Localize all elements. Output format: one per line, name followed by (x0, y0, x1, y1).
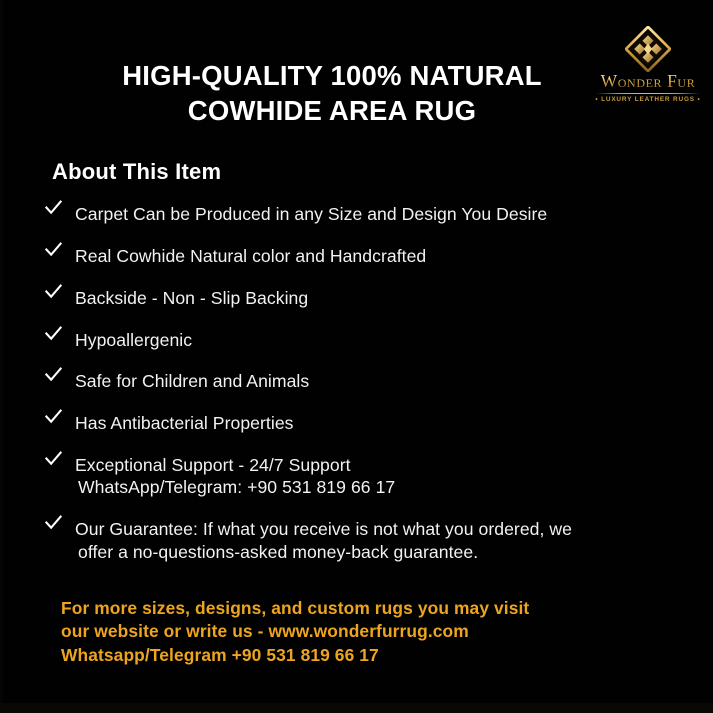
check-icon (44, 198, 63, 217)
brand-logo[interactable]: Wonder Fur • LUXURY LEATHER RUGS • (589, 26, 707, 102)
footer-website-line[interactable]: our website or write us - www.wonderfurr… (61, 620, 681, 643)
bottom-band (0, 703, 713, 713)
list-item-label: Backside - Non - Slip Backing (75, 288, 308, 308)
list-item-label: Real Cowhide Natural color and Handcraft… (75, 246, 426, 266)
list-item-label: Carpet Can be Produced in any Size and D… (75, 204, 547, 224)
footer-line-1: For more sizes, designs, and custom rugs… (61, 597, 681, 620)
list-item-label: Our Guarantee: If what you receive is no… (75, 519, 572, 539)
list-item-label: Hypoallergenic (75, 330, 192, 350)
list-item: Our Guarantee: If what you receive is no… (40, 518, 680, 563)
list-item: Backside - Non - Slip Backing (40, 287, 680, 309)
page-title-line-1: HIGH-QUALITY 100% NATURAL (122, 60, 542, 91)
list-item: Exceptional Support - 24/7 Support Whats… (40, 454, 680, 499)
logo-divider (596, 93, 700, 94)
list-item-label: Exceptional Support - 24/7 Support (75, 455, 351, 475)
list-item-contact: WhatsApp/Telegram: +90 531 819 66 17 (75, 476, 680, 498)
brand-tagline: • LUXURY LEATHER RUGS • (589, 96, 707, 103)
list-item-label-continued: offer a no-questions-asked money-back gu… (75, 541, 680, 563)
about-this-item-heading: About This Item (52, 159, 221, 185)
header: HIGH-QUALITY 100% NATURAL COWHIDE AREA R… (0, 0, 713, 145)
diamond-lozenge-icon (625, 26, 671, 72)
list-item-label: Safe for Children and Animals (75, 371, 309, 391)
list-item: Carpet Can be Produced in any Size and D… (40, 203, 680, 225)
list-item: Real Cowhide Natural color and Handcraft… (40, 245, 680, 267)
page-title: HIGH-QUALITY 100% NATURAL COWHIDE AREA R… (92, 58, 572, 128)
brand-name: Wonder Fur (589, 73, 707, 91)
page-title-line-2: COWHIDE AREA RUG (188, 95, 476, 126)
list-item: Has Antibacterial Properties (40, 412, 680, 434)
footer-phone-line[interactable]: Whatsapp/Telegram +90 531 819 66 17 (61, 644, 681, 667)
check-icon (44, 240, 63, 259)
check-icon (44, 324, 63, 343)
contact-footer: For more sizes, designs, and custom rugs… (61, 597, 681, 667)
product-info-card: HIGH-QUALITY 100% NATURAL COWHIDE AREA R… (0, 0, 713, 713)
list-item-label: Has Antibacterial Properties (75, 413, 294, 433)
check-icon (44, 513, 63, 532)
list-item: Hypoallergenic (40, 329, 680, 351)
check-icon (44, 449, 63, 468)
list-item: Safe for Children and Animals (40, 370, 680, 392)
check-icon (44, 407, 63, 426)
check-icon (44, 365, 63, 384)
feature-list: Carpet Can be Produced in any Size and D… (40, 203, 680, 582)
check-icon (44, 282, 63, 301)
